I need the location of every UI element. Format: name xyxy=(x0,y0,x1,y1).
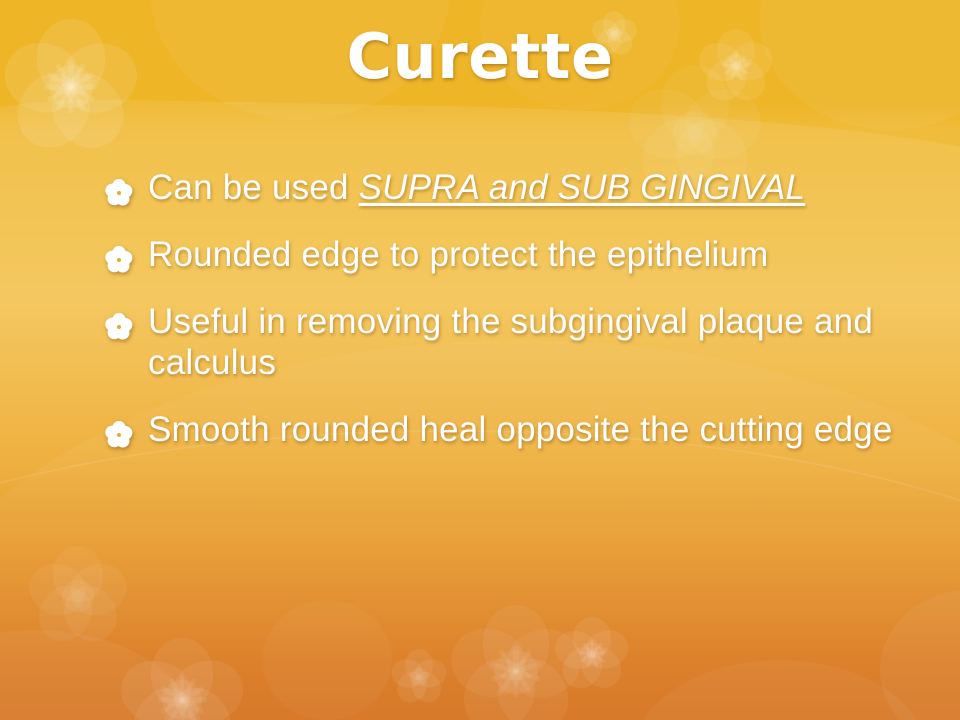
bullet-text: Rounded edge to protect the epithelium xyxy=(148,235,896,276)
flower-center-burst xyxy=(490,646,541,697)
flower-watermark xyxy=(556,618,628,690)
bullet-text: Can be used SUPRA and SUB GINGIVAL xyxy=(148,168,896,209)
flower-watermark xyxy=(30,548,126,644)
background-blob xyxy=(0,630,200,720)
background-blob xyxy=(630,660,930,720)
flower-bullet-icon xyxy=(106,247,132,273)
bullet-marker-cell xyxy=(106,302,148,340)
bullet-marker-cell xyxy=(106,235,148,273)
bullet-marker-cell xyxy=(106,168,148,206)
slide-body: Can be used SUPRA and SUB GINGIVAL Round… xyxy=(106,168,896,477)
bullet-item: Rounded edge to protect the epithelium xyxy=(106,235,896,276)
flower-center-burst xyxy=(158,676,206,720)
flower-center-burst xyxy=(578,640,607,669)
bullet-item: Smooth rounded heal opposite the cutting… xyxy=(106,410,896,451)
presentation-slide: Curette Can be used SUPRA and SUB GINGIV… xyxy=(0,0,960,720)
bullet-text: Smooth rounded heal opposite the cutting… xyxy=(148,410,896,451)
flower-watermark xyxy=(452,608,580,720)
flower-bullet-icon xyxy=(106,422,132,448)
bullet-text-segment: Can be used xyxy=(148,168,359,207)
bullet-marker-cell xyxy=(106,410,148,448)
slide-title: Curette xyxy=(346,26,613,88)
flower-bullet-icon xyxy=(106,180,132,206)
bullet-text-segment: Smooth rounded heal opposite the cutting… xyxy=(148,410,893,449)
bullet-text: Useful in removing the subgingival plaqu… xyxy=(148,302,896,384)
background-blob xyxy=(262,600,392,720)
slide-title-container: Curette xyxy=(0,26,960,88)
background-blob xyxy=(880,590,960,720)
bullet-text-segment: Useful in removing the subgingival plaqu… xyxy=(148,302,873,382)
flower-watermark xyxy=(392,650,446,704)
bullet-text-emphasis: SUPRA and SUB GINGIVAL xyxy=(359,168,806,207)
flower-watermark xyxy=(122,640,242,720)
bullet-item: Can be used SUPRA and SUB GINGIVAL xyxy=(106,168,896,209)
bullet-item: Useful in removing the subgingival plaqu… xyxy=(106,302,896,384)
flower-bullet-icon xyxy=(106,314,132,340)
bullet-text-segment: Rounded edge to protect the epithelium xyxy=(148,235,769,274)
